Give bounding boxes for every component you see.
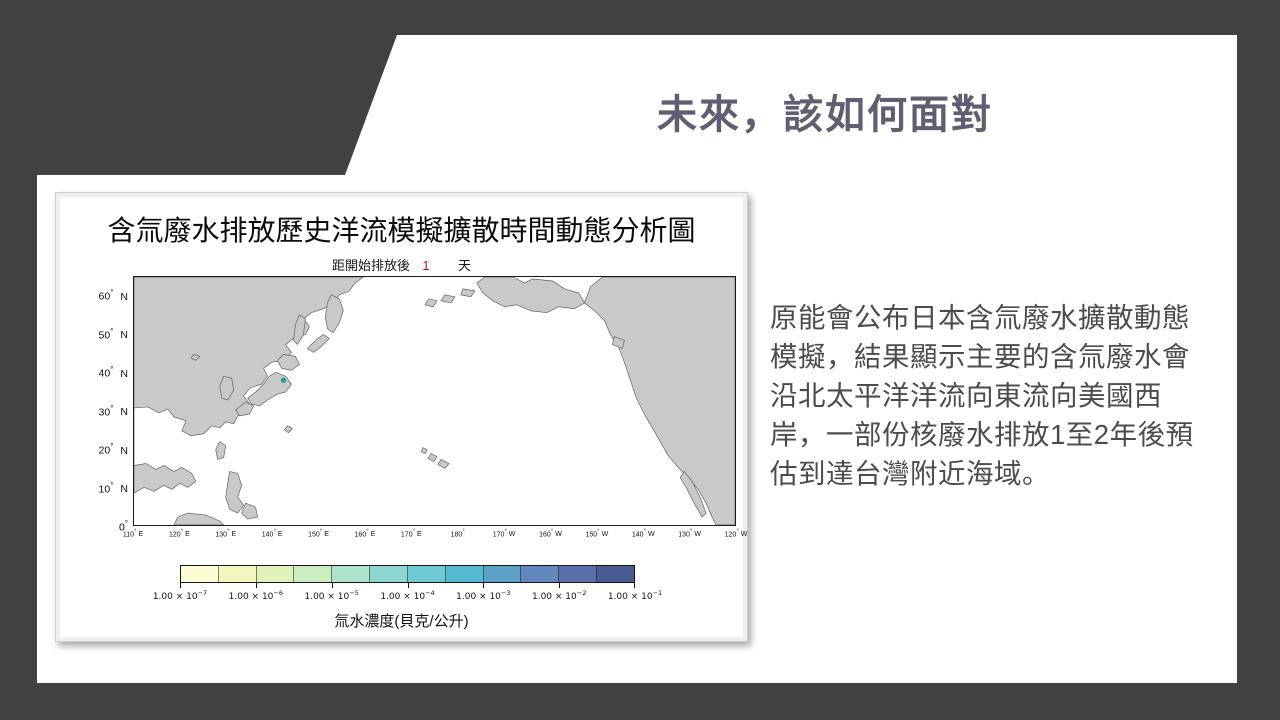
colorbar-label: 氚水濃度(貝克/公升) (60, 610, 743, 631)
chart-figure: 含氚廢水排放歷史洋流模擬擴散時間動態分析圖 距開始排放後1天 60°N50°N4… (60, 197, 743, 637)
colorbar-tick-4: 1.00 × 10−3 (456, 589, 510, 602)
chart-card: 含氚廢水排放歷史洋流模擬擴散時間動態分析圖 距開始排放後1天 60°N50°N4… (55, 192, 748, 642)
colorbar-tickmark-6 (634, 583, 635, 588)
colorbar-band-3 (294, 566, 332, 582)
release-point-marker (281, 378, 286, 383)
y-axis-tick-30: 30°N (99, 404, 128, 419)
colorbar-band-11 (597, 566, 634, 582)
x-axis-tick-120W: 120°W (725, 529, 748, 538)
colorbar-band-10 (559, 566, 597, 582)
colorbar-band-8 (484, 566, 522, 582)
chart-title: 含氚廢水排放歷史洋流模擬擴散時間動態分析圖 (60, 209, 743, 249)
colorbar-band-6 (408, 566, 446, 582)
colorbar (180, 565, 635, 583)
colorbar-band-5 (370, 566, 408, 582)
colorbar-tickmark-1 (256, 583, 257, 588)
y-axis-tick-10: 10°N (99, 481, 128, 496)
x-axis-tick-110E: 110°E (123, 529, 143, 538)
chart-subtitle: 距開始排放後1天 (60, 255, 743, 274)
y-axis-tick-50: 50°N (99, 327, 128, 342)
x-axis-tick-130W: 130°W (678, 529, 701, 538)
colorbar-tick-3: 1.00 × 10−4 (380, 589, 434, 602)
colorbar-wrap (180, 565, 635, 583)
colorbar-band-1 (219, 566, 257, 582)
x-axis-tick-160W: 160°W (539, 529, 562, 538)
x-axis-labels: 110°E120°E130°E140°E150°E160°E170°E180°1… (133, 529, 736, 545)
colorbar-band-4 (332, 566, 370, 582)
colorbar-tickmark-2 (332, 583, 333, 588)
colorbar-tickmark-0 (180, 583, 181, 588)
x-axis-tick-120E: 120°E (169, 529, 190, 538)
x-axis-tick-130E: 130°E (215, 529, 236, 538)
colorbar-tickmark-3 (408, 583, 409, 588)
y-axis-tick-20: 20°N (99, 442, 128, 457)
x-axis-tick-170W: 170°W (493, 529, 516, 538)
x-axis-tick-140E: 140°E (262, 529, 283, 538)
colorbar-tickmark-5 (559, 583, 560, 588)
colorbar-tick-6: 1.00 × 10−1 (608, 589, 662, 602)
map-svg (134, 277, 735, 525)
colorbar-band-7 (446, 566, 484, 582)
x-axis-tick-170E: 170°E (401, 529, 422, 538)
chart-subtitle-suffix: 天 (458, 258, 471, 273)
colorbar-tick-2: 1.00 × 10−5 (304, 589, 358, 602)
y-axis-tick-40: 40°N (99, 365, 128, 380)
page-title: 未來，該如何面對 (430, 82, 1220, 140)
colorbar-tick-1: 1.00 × 10−6 (229, 589, 283, 602)
x-axis-tick-140W: 140°W (632, 529, 655, 538)
colorbar-ticks: 1.00 × 10−71.00 × 10−61.00 × 10−51.00 × … (180, 585, 635, 599)
slide-root: 3 FUTURE 未來 展望 未來，該如何面對 含氚廢水排放歷史洋流模擬擴散時間… (0, 0, 1280, 720)
x-axis-tick-150W: 150°W (585, 529, 608, 538)
colorbar-tick-5: 1.00 × 10−2 (532, 589, 586, 602)
x-axis-tick-150E: 150°E (308, 529, 329, 538)
x-axis-tick-160E: 160°E (355, 529, 376, 538)
colorbar-band-0 (181, 566, 219, 582)
colorbar-band-9 (521, 566, 559, 582)
map-plot-area (133, 276, 736, 526)
chart-subtitle-prefix: 距開始排放後 (332, 258, 410, 273)
section-banner (0, 0, 410, 175)
colorbar-tickmark-4 (483, 583, 484, 588)
chart-subtitle-day: 1 (420, 258, 432, 273)
x-axis-tick-180: 180° (451, 529, 465, 538)
body-paragraph: 原能會公布日本含氚廢水擴散動態模擬，結果顯示主要的含氚廢水會沿北太平洋洋流向東流… (770, 298, 1210, 493)
colorbar-band-2 (257, 566, 295, 582)
y-axis-labels: 60°N50°N40°N30°N20°N10°N0° (60, 276, 128, 526)
colorbar-tick-0: 1.00 × 10−7 (153, 589, 207, 602)
y-axis-tick-60: 60°N (99, 288, 128, 303)
